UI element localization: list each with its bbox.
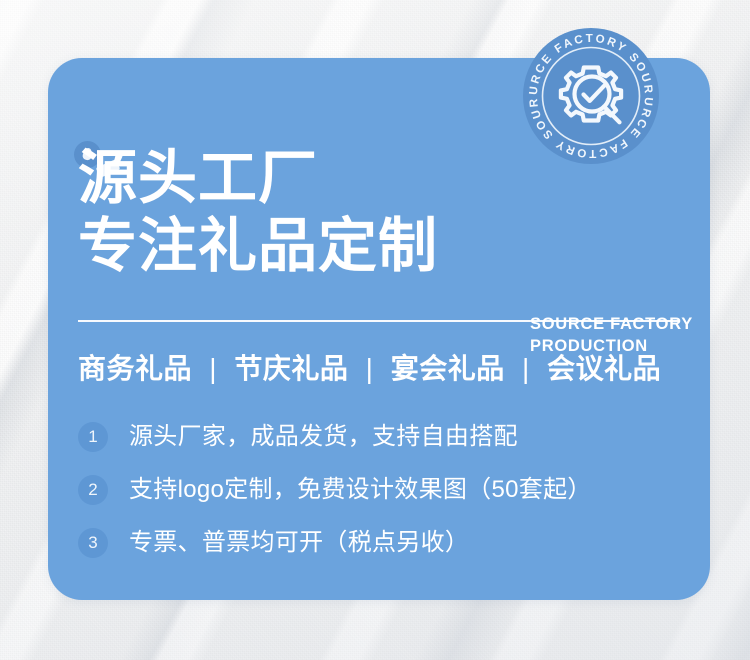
category-separator: |: [200, 350, 226, 388]
feature-number-badge: 2: [78, 475, 108, 505]
list-item: 1 源头厂家，成品发货，支持自由搭配: [78, 410, 688, 463]
feature-text: 专票、普票均可开（税点另收）: [129, 528, 469, 558]
category-item-0: 商务礼品: [78, 353, 192, 384]
feature-text: 支持logo定制，免费设计效果图（50套起）: [129, 475, 592, 505]
list-item: 2 支持logo定制，免费设计效果图（50套起）: [78, 463, 688, 516]
badge-disc: [523, 28, 659, 164]
category-separator: |: [357, 350, 383, 388]
promo-banner: 源头工厂 专注礼品定制 SOURCE FACTORY PRODUCTION 商务…: [0, 0, 750, 660]
category-item-1: 节庆礼品: [234, 353, 348, 384]
category-list: 商务礼品 | 节庆礼品 | 宴会礼品 | 会议礼品: [78, 350, 661, 388]
feature-number-badge: 3: [78, 528, 108, 558]
list-item: 3 专票、普票均可开（税点另收）: [78, 516, 688, 569]
feature-list: 1 源头厂家，成品发货，支持自由搭配 2 支持logo定制，免费设计效果图（50…: [78, 410, 688, 569]
feature-text: 源头厂家，成品发货，支持自由搭配: [129, 422, 518, 452]
headline-line-2: 专注礼品定制: [78, 212, 678, 280]
category-item-2: 宴会礼品: [391, 353, 505, 384]
category-separator: |: [513, 350, 539, 388]
headline-english-line-1: SOURCE FACTORY: [530, 313, 693, 335]
source-factory-seal-badge: SOURCE FACTORY SOURCE SOURCE FACTORY SOU…: [521, 26, 661, 166]
category-item-3: 会议礼品: [547, 353, 661, 384]
divider: [78, 320, 680, 322]
feature-number-badge: 1: [78, 422, 108, 452]
